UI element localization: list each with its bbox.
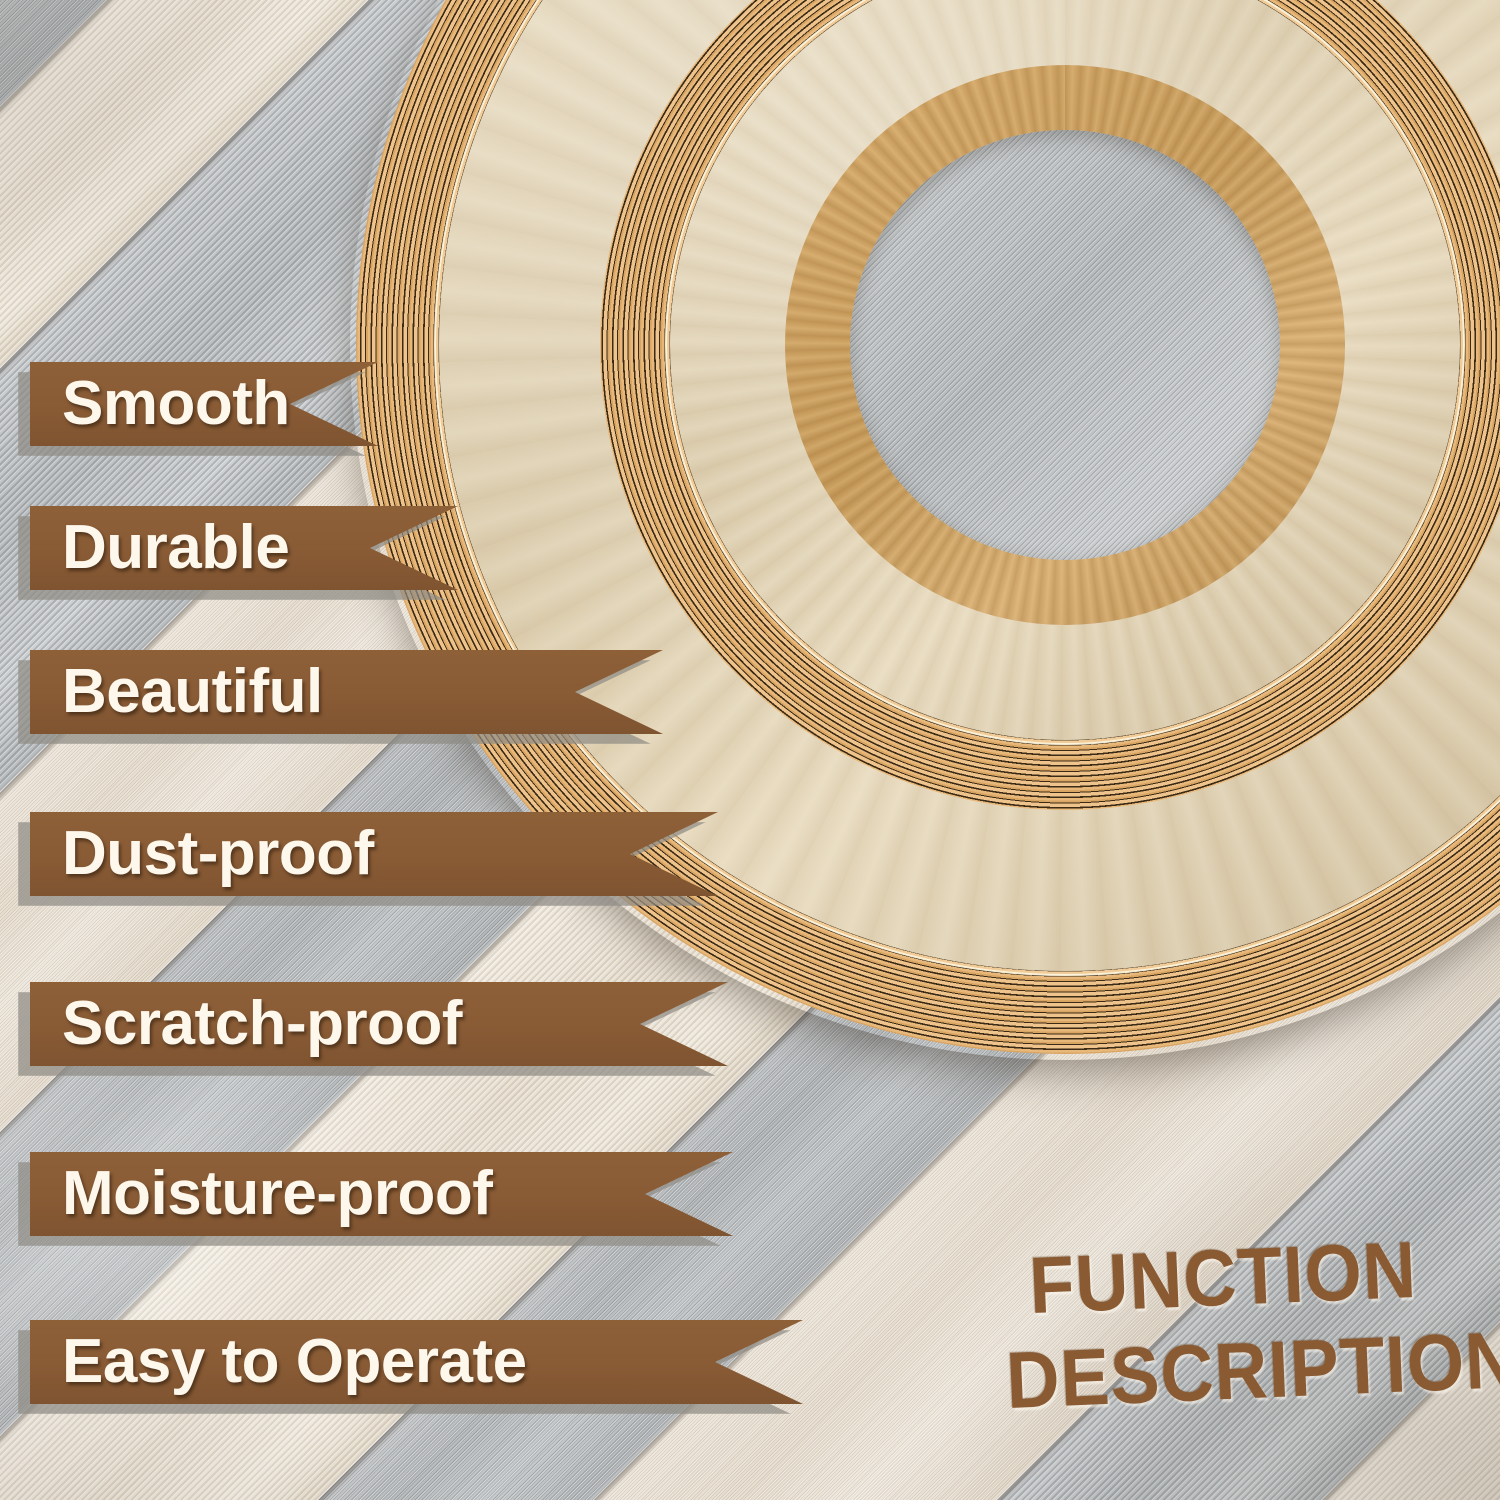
feature-label: Beautiful [30,650,323,734]
feature-label: Dust-proof [30,812,374,896]
feature-ribbon: Durable [30,506,460,590]
ribbon-shape: Moisture-proof [30,1152,735,1236]
ribbon-shape: Scratch-proof [30,982,730,1066]
feature-label: Durable [30,506,289,590]
ribbon-shape: Dust-proof [30,812,720,896]
function-description-heading: FUNCTION DESCRIPTION [982,1228,1469,1422]
feature-label: Smooth [30,362,290,446]
ribbon-shape: Durable [30,506,460,590]
product-feature-banner: SmoothDurableBeautifulDust-proofScratch-… [0,0,1500,1500]
feature-label: Moisture-proof [30,1152,492,1236]
feature-ribbon: Dust-proof [30,812,720,896]
ribbon-shape: Beautiful [30,650,665,734]
feature-label: Scratch-proof [30,982,462,1066]
feature-ribbon: Beautiful [30,650,665,734]
feature-ribbon: Scratch-proof [30,982,730,1066]
ribbon-shape: Easy to Operate [30,1320,805,1404]
feature-ribbon: Easy to Operate [30,1320,805,1404]
feature-ribbon: Moisture-proof [30,1152,735,1236]
feature-ribbon: Smooth [30,362,380,446]
feature-label: Easy to Operate [30,1320,527,1404]
ribbon-shape: Smooth [30,362,380,446]
heading-line-2: DESCRIPTION [1005,1323,1450,1421]
heading-line-1: FUNCTION [1001,1229,1446,1327]
